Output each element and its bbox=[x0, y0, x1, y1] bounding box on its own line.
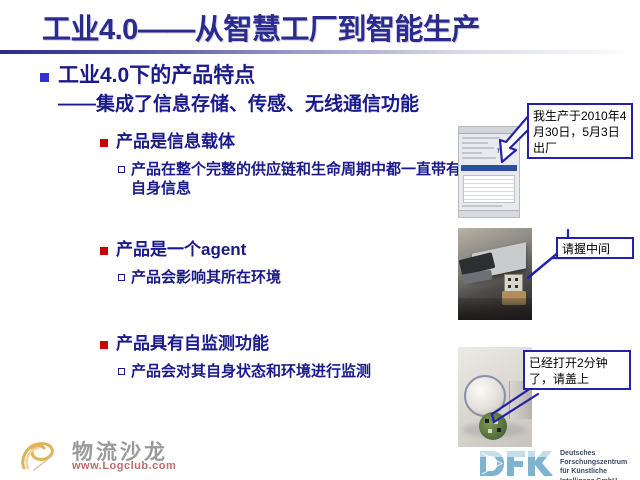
bullet-level3-3: 产品会对其自身状态和环境进行监测 bbox=[118, 362, 463, 381]
doc-selected-row bbox=[461, 165, 517, 171]
bullet-level1-label: 工业4.0下的产品特点 bbox=[58, 64, 255, 88]
bullet-level3-3-label: 产品会对其自身状态和环境进行监测 bbox=[131, 362, 371, 381]
bullet-level3-2-label: 产品会影响其所在环境 bbox=[131, 268, 281, 287]
doc-line bbox=[462, 137, 500, 139]
callout-production-date: 我生产于2010年4月30日，5月3日出厂 bbox=[527, 103, 633, 159]
bullet-level2-1: 产品是信息载体 bbox=[100, 132, 235, 152]
doc-brand-mark: Tebox bbox=[497, 149, 514, 155]
hollow-square-bullet-icon bbox=[118, 368, 125, 375]
doc-line bbox=[462, 205, 502, 207]
bullet-level3-1-label: 产品在整个完整的供应链和生命周期中都一直带有自身信息 bbox=[131, 160, 463, 198]
bullet-level2-2-label: 产品是一个agent bbox=[116, 240, 246, 260]
bullet-level2-2: 产品是一个agent bbox=[100, 240, 246, 260]
bullet-level1-subline: ——集成了信息存储、传感、无线通信功能 bbox=[58, 94, 419, 116]
square-bullet-icon bbox=[100, 341, 108, 349]
slide-body: 工业4.0下的产品特点 ——集成了信息存储、传感、无线通信功能 产品是信息载体 … bbox=[0, 56, 470, 416]
callout-grip-middle: 请握中间 bbox=[556, 237, 634, 259]
doc-line bbox=[462, 152, 482, 154]
slide-canvas: 工业4.0——从智慧工厂到智能生产 工业4.0下的产品特点 ——集成了信息存储、… bbox=[0, 0, 640, 480]
cap-circuit-board bbox=[479, 412, 507, 440]
logclub-url: www.Logclub.com bbox=[72, 460, 176, 472]
dfki-line-1: Deutsches bbox=[560, 450, 595, 457]
bullet-level2-3-label: 产品具有自监测功能 bbox=[116, 334, 269, 354]
bullet-level2-3: 产品具有自监测功能 bbox=[100, 334, 269, 354]
dfki-fullname: Deutsches Forschungszentrum für Künstlic… bbox=[560, 449, 627, 480]
swirl-icon bbox=[18, 438, 64, 472]
doc-statusbar bbox=[459, 210, 519, 217]
square-bullet-icon bbox=[40, 73, 49, 82]
robot-shadow bbox=[458, 298, 532, 320]
doc-line bbox=[462, 147, 494, 149]
slide-header: 工业4.0——从智慧工厂到智能生产 bbox=[0, 0, 640, 52]
doc-table bbox=[463, 175, 515, 203]
logclub-logo: 物流沙龙 www.Logclub.com bbox=[14, 436, 200, 476]
bullet-level3-2: 产品会影响其所在环境 bbox=[118, 268, 463, 287]
photo-document-screenshot: Tebox bbox=[458, 126, 520, 218]
bullet-level3-1: 产品在整个完整的供应链和生命周期中都一直带有自身信息 bbox=[118, 160, 463, 198]
callout-close-lid: 已经打开2分钟了，请盖上 bbox=[523, 350, 631, 390]
hollow-square-bullet-icon bbox=[118, 166, 125, 173]
hollow-square-bullet-icon bbox=[118, 274, 125, 281]
square-bullet-icon bbox=[100, 247, 108, 255]
page-title: 工业4.0——从智慧工厂到智能生产 bbox=[42, 6, 480, 48]
square-bullet-icon bbox=[100, 139, 108, 147]
doc-line bbox=[462, 142, 488, 144]
robot-held-cap bbox=[504, 274, 523, 292]
photo-robot-gripper bbox=[458, 228, 532, 320]
bullet-level2-1-label: 产品是信息载体 bbox=[116, 132, 235, 152]
doc-line bbox=[462, 157, 496, 159]
dfki-mark-icon bbox=[478, 449, 556, 478]
bullet-level1: 工业4.0下的产品特点 bbox=[40, 64, 255, 88]
dfki-line-3: für Künstliche bbox=[560, 468, 607, 475]
cap-main bbox=[464, 375, 506, 417]
doc-titlebar bbox=[459, 127, 519, 134]
dfki-logo: Deutsches Forschungszentrum für Künstlic… bbox=[478, 449, 638, 480]
title-divider bbox=[0, 50, 640, 54]
dfki-line-2: Forschungszentrum bbox=[560, 459, 627, 466]
photo-bottle-cap-pcb bbox=[458, 347, 532, 447]
